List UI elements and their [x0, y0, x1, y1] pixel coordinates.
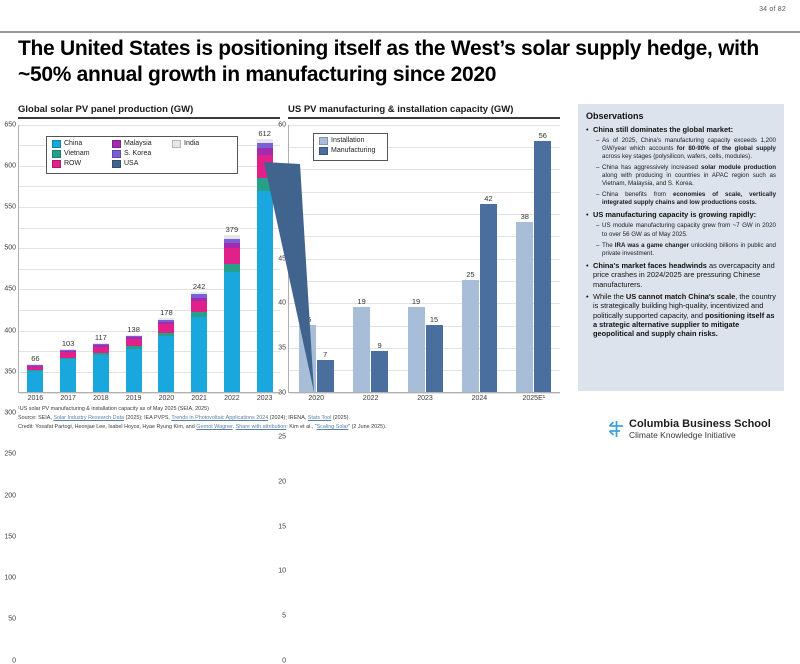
- bar-segment-china: [257, 191, 273, 392]
- gridline: 350: [19, 248, 280, 249]
- gridline: 45: [289, 192, 560, 193]
- footnote-link[interactable]: Scaling Solar: [317, 424, 349, 430]
- y-axis-tick-label: 50: [8, 616, 16, 623]
- gridline: 60: [289, 125, 560, 126]
- observation-bullet: –The IRA was a game changer unlocking bi…: [596, 242, 776, 258]
- bar-value-label: 242: [182, 282, 216, 291]
- x-axis-tick-label: 2024: [452, 395, 506, 402]
- bar-segment-vietnam: [60, 358, 76, 360]
- gridline: 450: [19, 207, 280, 208]
- legend-swatch: [319, 147, 328, 155]
- bar-segment-vietnam: [27, 370, 43, 371]
- y-axis-tick-label: 550: [4, 203, 16, 210]
- bar-segment-malaysia: [224, 243, 240, 248]
- bar-segment-malaysia: [27, 366, 43, 367]
- bar-segment-s-korea: [191, 294, 207, 297]
- y-axis-tick-label: 650: [4, 121, 16, 128]
- y-axis-tick-label: 0: [282, 657, 286, 664]
- bar-value-label: 379: [215, 225, 249, 234]
- bar-segment-s-korea: [257, 143, 273, 148]
- observation-bullet: –US module manufacturing capacity grew f…: [596, 222, 776, 238]
- bar-segment-india: [93, 343, 109, 344]
- bar-segment-row: [191, 301, 207, 311]
- bar-value-label: 103: [51, 339, 85, 348]
- y-axis-tick-label: 40: [278, 300, 286, 307]
- bar-segment-row: [60, 352, 76, 357]
- observations-panel: Observations •China still dominates the …: [578, 104, 784, 391]
- stacked-bar: [93, 343, 109, 391]
- gridline: 50: [289, 169, 560, 170]
- bullet-text: China's market faces headwinds as overca…: [593, 261, 776, 289]
- legend-item-installation[interactable]: Installation: [319, 137, 364, 145]
- stacked-bar: [257, 139, 273, 391]
- columbia-crown-icon: [608, 420, 625, 438]
- bar-segment-vietnam: [191, 312, 207, 317]
- bar-manufacturing: [534, 141, 551, 391]
- footnote-text: ” (2 June 2025).: [348, 424, 386, 430]
- bar-segment-vietnam: [158, 333, 174, 337]
- y-axis-tick-label: 15: [278, 523, 286, 530]
- left-chart-title: Global solar PV panel production (GW): [18, 104, 280, 117]
- bar-segment-vietnam: [93, 353, 109, 355]
- legend-swatch: [52, 160, 61, 168]
- right-chart-legend: InstallationManufacturing: [313, 133, 388, 161]
- legend-row: VietnamS. Korea: [52, 150, 232, 158]
- y-axis-tick-label: 30: [278, 389, 286, 396]
- bar-value-label: 117: [84, 333, 118, 342]
- bullet-text: As of 2025, China's manufacturing capaci…: [602, 137, 776, 161]
- x-axis-tick-label: 2022: [343, 395, 397, 402]
- legend-swatch: [112, 160, 121, 168]
- bar-segment-row: [93, 347, 109, 353]
- y-axis-tick-label: 400: [4, 327, 16, 334]
- footnote-credit: Credit: Yosafat Partogi, Heonjae Lee, Is…: [18, 424, 386, 432]
- footnote-link[interactable]: Stats Tool: [308, 415, 332, 421]
- logo-secondary-text: Climate Knowledge Initiative: [629, 430, 771, 440]
- bar-value-label: 7: [308, 350, 342, 359]
- y-axis-tick-label: 25: [278, 434, 286, 441]
- bar-segment-china: [191, 317, 207, 392]
- bar-value-label: 138: [117, 325, 151, 334]
- bar-installation: [462, 280, 479, 392]
- y-axis-tick-label: 0: [12, 657, 16, 664]
- legend-item-india[interactable]: India: [172, 140, 228, 148]
- bar-segment-india: [224, 235, 240, 239]
- bar-segment-vietnam: [224, 264, 240, 272]
- gridline: 50: [19, 372, 280, 373]
- footnote-text: Source: SEIA,: [18, 415, 53, 421]
- y-axis-tick-label: 600: [4, 162, 16, 169]
- footnote-text: (2025); IEA PVPS,: [124, 415, 171, 421]
- bar-value-label: 178: [149, 308, 183, 317]
- bar-segment-india: [126, 335, 142, 336]
- stacked-bar: [191, 292, 207, 392]
- observations-list: •China still dominates the global market…: [586, 125, 776, 339]
- x-axis-tick-label: 2018: [85, 395, 118, 402]
- footnote-text: (2025).: [331, 415, 350, 421]
- legend-row: Manufacturing: [319, 147, 382, 155]
- footnote-text: Credit: Yosafat Partogi, Heonjae Lee, Is…: [18, 424, 196, 430]
- stacked-bar: [60, 349, 76, 391]
- global-production-panel: Global solar PV panel production (GW) 05…: [18, 104, 280, 393]
- gridline: 0: [289, 393, 560, 394]
- bar-value-label: 19: [345, 297, 379, 306]
- legend-swatch: [52, 150, 61, 158]
- footnote-text: (2024); IRENA,: [268, 415, 308, 421]
- observation-bullet: •China's market faces headwinds as overc…: [586, 261, 776, 289]
- stacked-bar: [27, 364, 43, 391]
- x-axis-tick-label: 2022: [216, 395, 249, 402]
- y-axis-tick-label: 250: [4, 451, 16, 458]
- footnote-link[interactable]: Share with attribution: [236, 424, 287, 430]
- y-axis-tick-label: 10: [278, 568, 286, 575]
- y-axis-tick-label: 150: [4, 533, 16, 540]
- legend-item-malaysia[interactable]: Malaysia: [112, 140, 168, 148]
- bar-segment-row: [158, 324, 174, 332]
- x-axis-tick-label: 2023: [398, 395, 452, 402]
- page-title: The United States is positioning itself …: [18, 36, 780, 87]
- y-axis-tick-label: 300: [4, 410, 16, 417]
- bar-value-label: 56: [526, 131, 560, 140]
- bar-segment-s-korea: [126, 335, 142, 337]
- footnote-text: : Kim: [286, 424, 300, 430]
- y-axis-tick-label: 20: [278, 478, 286, 485]
- legend-label: USA: [124, 160, 138, 167]
- bar-value-label: 66: [18, 354, 52, 363]
- legend-item-manufacturing[interactable]: Manufacturing: [319, 147, 375, 155]
- bar-segment-s-korea: [224, 239, 240, 243]
- right-chart-title: US PV manufacturing & installation capac…: [288, 104, 560, 117]
- bar-value-label: 42: [471, 194, 505, 203]
- legend-row: ChinaMalaysiaIndia: [52, 140, 232, 148]
- y-axis-tick-label: 50: [278, 210, 286, 217]
- bullet-marker: •: [586, 261, 593, 289]
- bar-segment-malaysia: [126, 337, 142, 339]
- legend-label: Vietnam: [64, 150, 90, 157]
- bar-segment-row: [27, 367, 43, 370]
- bar-segment-row: [257, 155, 273, 179]
- bar-segment-malaysia: [257, 148, 273, 155]
- bar-segment-china: [224, 272, 240, 392]
- observation-bullet: –As of 2025, China's manufacturing capac…: [596, 137, 776, 161]
- stacked-bar: [126, 335, 142, 392]
- bar-manufacturing: [426, 325, 443, 392]
- us-capacity-panel: US PV manufacturing & installation capac…: [288, 104, 560, 393]
- bar-segment-vietnam: [257, 178, 273, 190]
- legend-swatch: [112, 140, 121, 148]
- bar-segment-china: [126, 349, 142, 392]
- y-axis-tick-label: 60: [278, 121, 286, 128]
- bar-segment-row: [126, 339, 142, 346]
- legend-swatch: [172, 140, 181, 148]
- bar-segment-malaysia: [60, 351, 76, 353]
- bar-segment-india: [191, 292, 207, 294]
- bar-value-label: 9: [363, 341, 397, 350]
- gridline: 300: [19, 269, 280, 270]
- x-axis-tick-label: 2019: [117, 395, 150, 402]
- x-axis-tick-label: 2020: [150, 395, 183, 402]
- footnote-link[interactable]: Gernot Wagner: [196, 424, 232, 430]
- bullet-marker: •: [586, 292, 593, 339]
- bullet-text: China has aggressively increased solar m…: [602, 164, 776, 188]
- y-axis-tick-label: 55: [278, 166, 286, 173]
- bar-manufacturing: [317, 360, 334, 391]
- legend-label: Installation: [331, 137, 364, 144]
- legend-label: S. Korea: [124, 150, 151, 157]
- stacked-bar: [224, 235, 240, 391]
- legend-row: ROWUSA: [52, 160, 232, 168]
- gridline: 650: [19, 125, 280, 126]
- page-number: 34 of 82: [759, 6, 786, 13]
- stacked-bar: [158, 318, 174, 391]
- bar-segment-china: [27, 371, 43, 391]
- legend-row: Installation: [319, 137, 382, 145]
- y-axis-tick-label: 350: [4, 368, 16, 375]
- observation-bullet: –China has aggressively increased solar …: [596, 164, 776, 188]
- bar-segment-china: [93, 355, 109, 392]
- y-axis-tick-label: 100: [4, 575, 16, 582]
- bar-manufacturing: [480, 204, 497, 392]
- footnote-link[interactable]: Solar Industry Research Data: [53, 415, 124, 421]
- global-production-chart: 050100150200250300350400450500550600650 …: [18, 125, 280, 393]
- gridline: 500: [19, 186, 280, 187]
- bullet-text: US module manufacturing capacity grew fr…: [602, 222, 776, 238]
- legend-item-china[interactable]: China: [52, 140, 108, 148]
- bar-manufacturing: [371, 351, 388, 391]
- legend-item-vietnam[interactable]: Vietnam: [52, 150, 108, 158]
- bar-segment-china: [60, 359, 76, 391]
- bullet-text: China benefits from economies of scale, …: [602, 191, 776, 207]
- x-axis-tick-label: 2017: [52, 395, 85, 402]
- bar-value-label: 15: [290, 315, 324, 324]
- y-axis-tick-label: 200: [4, 492, 16, 499]
- y-axis-tick-label: 500: [4, 245, 16, 252]
- bar-segment-china: [158, 336, 174, 391]
- x-axis-tick-label: 2025E¹: [507, 395, 561, 402]
- bullet-marker: •: [586, 210, 593, 219]
- legend-label: ROW: [64, 160, 81, 167]
- observation-bullet: –China benefits from economies of scale,…: [596, 191, 776, 207]
- bar-segment-vietnam: [126, 346, 142, 348]
- bar-segment-s-korea: [158, 320, 174, 322]
- legend-label: China: [64, 140, 82, 147]
- footnote-1: ¹US solar PV manufacturing & installatio…: [18, 406, 209, 414]
- legend-swatch: [319, 137, 328, 145]
- bar-value-label: 612: [248, 129, 282, 138]
- bar-segment-s-korea: [93, 344, 109, 345]
- bar-segment-row: [224, 248, 240, 264]
- gridline: 250: [19, 289, 280, 290]
- y-axis-tick-label: 45: [278, 255, 286, 262]
- bar-segment-malaysia: [93, 345, 109, 347]
- observation-bullet: •China still dominates the global market…: [586, 125, 776, 134]
- gridline: 100: [19, 351, 280, 352]
- x-axis-tick-label: 2016: [19, 395, 52, 402]
- x-axis-tick-label: 2023: [248, 395, 281, 402]
- left-chart-legend: ChinaMalaysiaIndiaVietnamS. KoreaROWUSA: [46, 136, 238, 174]
- bar-segment-s-korea: [27, 365, 43, 366]
- legend-swatch: [112, 150, 121, 158]
- legend-item-s-korea[interactable]: S. Korea: [112, 150, 168, 158]
- bar-segment-malaysia: [158, 322, 174, 324]
- observation-bullet: •While the US cannot match China's scale…: [586, 292, 776, 339]
- bullet-text: China still dominates the global market:: [593, 125, 776, 134]
- footnote-link[interactable]: Trends in Photovoltaic Applications 2024: [171, 415, 268, 421]
- bar-segment-india: [257, 139, 273, 143]
- bar-segment-india: [158, 318, 174, 320]
- us-capacity-chart: 051015202530354045505560 202015720221992…: [288, 125, 560, 393]
- columbia-business-school-logo: Columbia Business School Climate Knowled…: [608, 418, 771, 440]
- bar-segment-s-korea: [60, 349, 76, 350]
- bullet-text: The IRA was a game changer unlocking bil…: [602, 242, 776, 258]
- legend-label: Malaysia: [124, 140, 152, 147]
- legend-item-row[interactable]: ROW: [52, 160, 108, 168]
- legend-label: Manufacturing: [331, 147, 375, 154]
- header-divider: [0, 31, 800, 33]
- bullet-text: While the US cannot match China's scale,…: [593, 292, 776, 339]
- bullet-text: US manufacturing capacity is growing rap…: [593, 210, 776, 219]
- bullet-marker: •: [586, 125, 593, 134]
- y-axis-tick-label: 5: [282, 612, 286, 619]
- legend-label: India: [184, 140, 199, 147]
- footnote-text: et al.: [300, 424, 312, 430]
- footnote-sources: Source: SEIA, Solar Industry Research Da…: [18, 415, 350, 423]
- gridline: 0: [19, 393, 280, 394]
- right-chart-title-rule: [288, 117, 560, 119]
- observation-bullet: •US manufacturing capacity is growing ra…: [586, 210, 776, 219]
- x-axis-tick-label: 2021: [183, 395, 216, 402]
- x-axis-tick-label: 2020: [289, 395, 343, 402]
- legend-item-usa[interactable]: USA: [112, 160, 168, 168]
- logo-primary-text: Columbia Business School: [629, 418, 771, 430]
- y-axis-tick-label: 35: [278, 344, 286, 351]
- observations-heading: Observations: [586, 111, 776, 121]
- bar-segment-malaysia: [191, 298, 207, 302]
- left-chart-title-rule: [18, 117, 280, 119]
- y-axis-tick-label: 450: [4, 286, 16, 293]
- legend-swatch: [52, 140, 61, 148]
- bar-value-label: 15: [417, 315, 451, 324]
- bar-installation: [516, 222, 533, 392]
- bar-value-label: 19: [399, 297, 433, 306]
